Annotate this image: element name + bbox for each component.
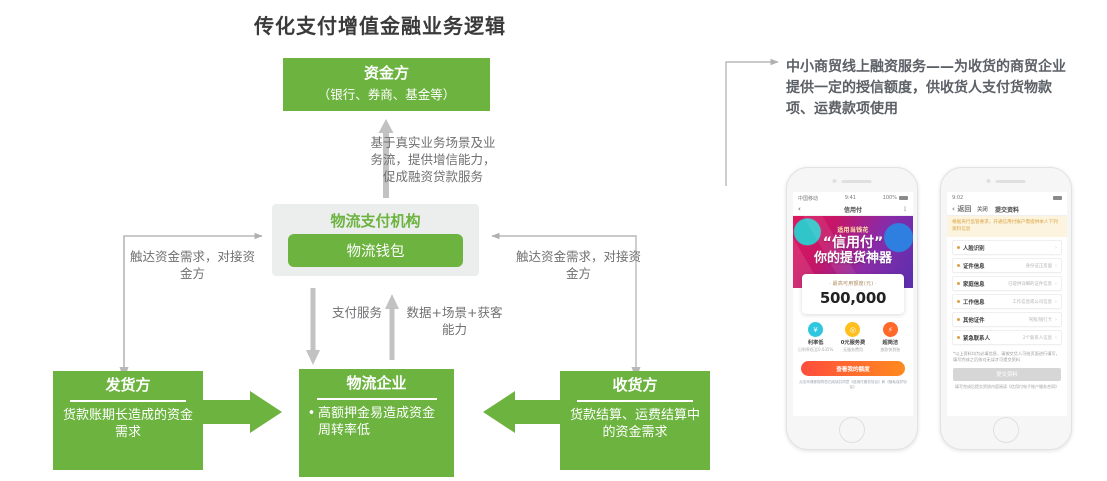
close-button[interactable]: 关闭 xyxy=(977,205,988,213)
consignee-desc: 货款结算、运费结算中的资金需求 xyxy=(560,407,710,442)
home-button[interactable] xyxy=(839,417,865,443)
feature-desc: 日利率低至0.035% xyxy=(797,347,834,353)
hero-line-3: 你的提货神器 xyxy=(793,252,913,266)
nav-title: 信用付 xyxy=(844,205,862,214)
label-left-demand: 触达资金需求，对接资金方 xyxy=(130,249,255,283)
chevron-right-icon: › xyxy=(1055,299,1057,305)
logistics-title: 物流企业 xyxy=(299,374,454,394)
form-row-family-info[interactable]: 家庭信息 已提供详细的证件信息 › xyxy=(952,276,1062,291)
share-icon[interactable]: ⋮ xyxy=(902,206,908,213)
form-row-label: 其他证件 xyxy=(963,316,985,324)
status-time: 9:02 xyxy=(952,195,963,201)
form-row-label: 证件信息 xyxy=(963,262,985,270)
fast-icon: ⚡ xyxy=(883,322,898,337)
nav-bar: ‹ 信用付 ⋮ xyxy=(793,203,913,216)
annotation-leader-line xyxy=(726,62,778,186)
label-payment-service: 支付服务 xyxy=(322,305,392,322)
quota-value: 500,000 xyxy=(802,289,904,307)
back-icon[interactable]: ‹ xyxy=(798,205,801,213)
funder-title: 资金方 xyxy=(283,64,490,84)
status-bar: 9:02 xyxy=(947,192,1067,203)
phone-right-screen: 9:02 ‹ 返回 关闭 提交资料 根据央行监管要求，开通信用付账户需提供本人下… xyxy=(947,192,1067,416)
feature-name: 0元服务费 xyxy=(835,339,872,346)
form-row-work-info[interactable]: 工作信息 工作信息或公司信息 › xyxy=(952,294,1062,309)
form-list: 人脸识别 › 证件信息 身份证正反面 › 家庭信息 已提供详细的证件信息 › xyxy=(947,237,1067,345)
regulatory-notice: 根据央行监管要求，开通信用付账户需提供本人下列资料信息 xyxy=(947,216,1067,237)
rate-icon: ¥ xyxy=(808,322,823,337)
form-row-value: 已提供详细的证件信息 xyxy=(1008,281,1052,287)
status-time: 9:41 xyxy=(845,195,856,201)
feature-name: 利率低 xyxy=(797,339,834,346)
camera-icon xyxy=(987,179,991,183)
battery-icon xyxy=(899,196,908,200)
form-row-other-documents[interactable]: 其他证件 驾照/银行卡 › xyxy=(952,312,1062,327)
required-dot-icon xyxy=(957,246,960,249)
phone-earpiece xyxy=(833,179,872,183)
logistics-bullet-row: • 高额押金易造成资金周转率低 xyxy=(299,405,454,440)
payment-institution-title: 物流支付机构 xyxy=(272,204,479,231)
feature-desc: 无服务费用 xyxy=(835,347,872,353)
feature-row: ¥ 利率低 日利率低至0.035% ◎ 0元服务费 无服务费用 ⚡ 超简洁 放款… xyxy=(793,322,913,353)
required-dot-icon xyxy=(957,282,960,285)
form-row-id-info[interactable]: 证件信息 身份证正反面 › xyxy=(952,258,1062,273)
label-data-capability: 数据+场景+获客能力 xyxy=(402,305,507,339)
form-row-label: 紧急联系人 xyxy=(963,334,990,342)
arrow-logistics-to-payment xyxy=(385,294,399,360)
chevron-right-icon: › xyxy=(1055,317,1057,323)
shipper-title: 发货方 xyxy=(53,376,203,396)
logistics-desc: 高额押金易造成资金周转率低 xyxy=(318,405,446,440)
shipper-desc: 货款账期长造成的资金需求 xyxy=(53,407,203,442)
back-icon[interactable]: ‹ 返回 xyxy=(952,204,971,214)
phone-mockup-credit-app: 中国移动 9:41 100% ‹ 信用付 ⋮ 适用当钱花 “信用付” 你的提货神… xyxy=(786,167,918,450)
submit-agreement-note: 填写完成后提交资质内容阅读《信用付电子账户服务合同》 xyxy=(947,384,1067,389)
logistics-wallet-box: 物流钱包 xyxy=(288,234,463,267)
shipper-box: 发货方 货款账期长造成的资金需求 xyxy=(53,371,203,470)
logistics-enterprise-box: 物流企业 • 高额押金易造成资金周转率低 xyxy=(299,369,454,477)
speaker-icon xyxy=(842,180,872,183)
hero-line-2: “信用付” xyxy=(793,236,913,251)
phone-earpiece xyxy=(987,179,1026,183)
phone-left-screen: 中国移动 9:41 100% ‹ 信用付 ⋮ 适用当钱花 “信用付” 你的提货神… xyxy=(793,192,913,416)
cta-agreement-note: 点击申请即视同您已阅读并同意《信用付服务协议》和《隐私保护协议》 xyxy=(793,380,913,389)
funder-box: 资金方 （银行、券商、基金等） xyxy=(283,58,490,111)
form-row-emergency-contact[interactable]: 紧急联系人 2个联系人信息 › xyxy=(952,330,1062,345)
logistics-divider xyxy=(317,398,437,400)
form-row-label: 人脸识别 xyxy=(963,244,985,252)
payment-institution-group: 物流支付机构 物流钱包 xyxy=(272,204,479,276)
speaker-icon xyxy=(996,180,1026,183)
quota-card: · 最高可用额度(元) · 500,000 xyxy=(802,274,904,314)
required-dot-icon xyxy=(957,300,960,303)
feature-desc: 放款快到账 xyxy=(872,347,909,353)
status-right xyxy=(1053,196,1062,200)
feature-name: 超简洁 xyxy=(872,339,909,346)
diagram-canvas: 传化支付增值金融业务逻辑 xyxy=(0,0,1107,481)
feature-item: ⚡ 超简洁 放款快到账 xyxy=(872,322,909,353)
required-dot-icon xyxy=(957,336,960,339)
required-dot-icon xyxy=(957,318,960,321)
consignee-box: 收货方 货款结算、运费结算中的资金需求 xyxy=(560,371,710,470)
form-row-value: 驾照/银行卡 xyxy=(1029,317,1052,323)
home-button[interactable] xyxy=(993,417,1019,443)
label-funder-flow: 基于真实业务场景及业务流，提供增信能力，促成融资贷款服务 xyxy=(368,135,498,186)
form-row-label: 家庭信息 xyxy=(963,280,985,288)
check-quota-button[interactable]: 查看我的额度 xyxy=(801,361,905,376)
chevron-right-icon: › xyxy=(1055,263,1057,269)
form-row-value: 工作信息或公司信息 xyxy=(1012,299,1052,305)
consignee-title: 收货方 xyxy=(560,376,710,396)
chevron-right-icon: › xyxy=(1055,335,1057,341)
hero-line-1: 适用当钱花 xyxy=(793,216,913,234)
nav-bar: ‹ 返回 关闭 提交资料 xyxy=(947,203,1067,216)
arrow-payment-to-logistics xyxy=(306,288,320,365)
funder-subtitle: （银行、券商、基金等） xyxy=(283,87,490,104)
nav-title: 提交资料 xyxy=(995,205,1019,214)
status-bar: 中国移动 9:41 100% xyxy=(793,192,913,203)
feature-item: ◎ 0元服务费 无服务费用 xyxy=(835,322,872,353)
form-row-value: 身份证正反面 xyxy=(1026,263,1052,269)
phone-mockup-form: 9:02 ‹ 返回 关闭 提交资料 根据央行监管要求，开通信用付账户需提供本人下… xyxy=(940,167,1072,450)
label-right-demand: 触达资金需求，对接资金方 xyxy=(516,249,641,283)
camera-icon xyxy=(833,179,837,183)
form-row-label: 工作信息 xyxy=(963,298,985,306)
feature-item: ¥ 利率低 日利率低至0.035% xyxy=(797,322,834,353)
annotation-note: 中小商贸线上融资服务——为收货的商贸企业提供一定的授信额度，供收货人支付货物款项… xyxy=(786,57,1071,120)
chevron-right-icon: › xyxy=(1055,281,1057,287)
quota-label: · 最高可用额度(元) · xyxy=(802,280,904,287)
consignee-divider xyxy=(577,400,693,402)
form-row-value: 2个联系人信息 xyxy=(1023,335,1052,341)
status-right: 100% xyxy=(883,195,908,201)
battery-icon xyxy=(1053,196,1062,200)
submit-button[interactable]: 提交资料 xyxy=(953,368,1061,381)
chevron-right-icon: › xyxy=(1055,245,1057,251)
status-battery-label: 100% xyxy=(883,195,897,201)
fee-icon: ◎ xyxy=(845,322,860,337)
form-warning-text: *以上资料均为必填信息，请按交货人可给页面进行填写，填写完成之后核对无误才可提交… xyxy=(947,348,1067,363)
form-row-face-recognition[interactable]: 人脸识别 › xyxy=(952,240,1062,255)
status-carrier: 中国移动 xyxy=(798,195,818,202)
bullet-icon: • xyxy=(305,405,318,440)
shipper-divider xyxy=(70,400,186,402)
required-dot-icon xyxy=(957,264,960,267)
